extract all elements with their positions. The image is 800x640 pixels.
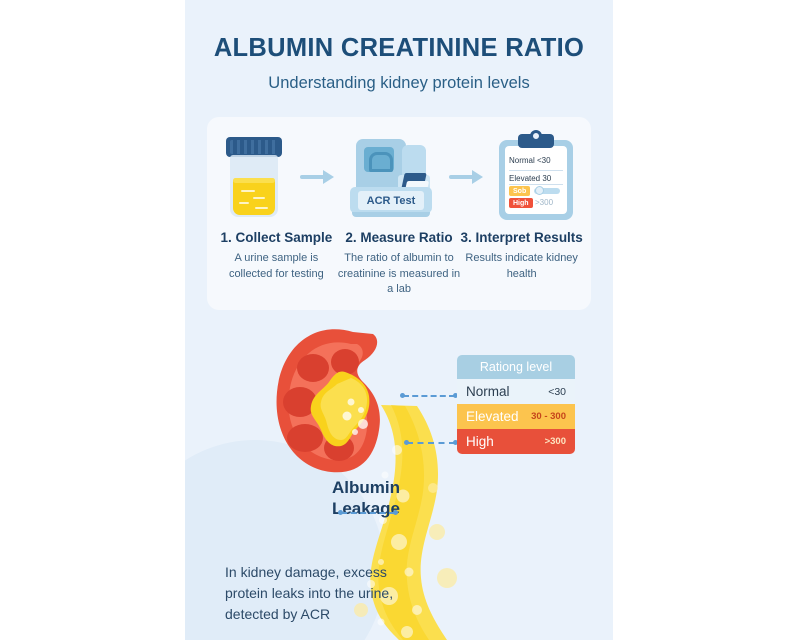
step-body: Results indicate kidney health [460, 251, 583, 281]
cup-urine-fluid [233, 178, 275, 215]
urine-sample-cup-icon [223, 135, 285, 219]
connector-normal [403, 395, 455, 397]
results-clipboard-icon: Normal <30 Elevated 30 Sob High >300 [497, 132, 575, 222]
legend-row-elevated: Elevated 30 - 300 [457, 404, 575, 429]
machine-screen [364, 147, 394, 172]
step-heading: 3. Interpret Results [460, 230, 583, 246]
legend-value: >300 [545, 436, 566, 447]
header: ALBUMIN CREATININE RATIO Understanding k… [185, 34, 613, 93]
infographic-canvas: ALBUMIN CREATININE RATIO Understanding k… [0, 0, 800, 640]
page-subtitle: Understanding kidney protein levels [185, 74, 613, 93]
legend-row-normal: Normal <30 [457, 379, 575, 404]
page-title: ALBUMIN CREATININE RATIO [185, 34, 613, 62]
legend-label: Normal [466, 384, 510, 399]
process-step: 1. Collect Sample A urine sample is coll… [215, 230, 338, 297]
machine-label: ACR Test [358, 193, 424, 209]
process-steps-text: 1. Collect Sample A urine sample is coll… [207, 230, 591, 297]
step-body: The ratio of albumin to creatinine is me… [338, 251, 461, 297]
process-card: ACR Test Normal <30 Elevated 30 Sob [207, 117, 591, 310]
step-heading: 1. Collect Sample [215, 230, 338, 246]
legend-label: Elevated [466, 409, 519, 424]
connector-albumin [341, 512, 395, 514]
legend-value: 30 - 300 [531, 411, 566, 422]
process-step: 2. Measure Ratio The ratio of albumin to… [338, 230, 461, 297]
clipboard-slider-knob [535, 186, 544, 195]
clipboard-badge-high: High [509, 198, 533, 208]
connector-high [407, 442, 455, 444]
process-icons-row: ACR Test Normal <30 Elevated 30 Sob [207, 127, 591, 227]
clipboard-ring [530, 130, 542, 142]
infographic-panel: ALBUMIN CREATININE RATIO Understanding k… [185, 0, 613, 640]
rating-level-legend: Rationg level Normal <30 Elevated 30 - 3… [457, 355, 575, 454]
step-heading: 2. Measure Ratio [338, 230, 461, 246]
legend-header: Rationg level [457, 355, 575, 379]
legend-value: <30 [548, 386, 566, 398]
bottom-description: In kidney damage, excess protein leaks i… [225, 562, 405, 625]
clipboard-row-normal: Normal <30 [509, 156, 551, 165]
arrow-icon-2 [449, 165, 483, 189]
legend-label: High [466, 434, 494, 449]
clipboard-badge-sob: Sob [509, 186, 530, 196]
process-step: 3. Interpret Results Results indicate ki… [460, 230, 583, 297]
clipboard-value-high: >300 [535, 198, 553, 207]
step-body: A urine sample is collected for testing [215, 251, 338, 281]
legend-row-high: High >300 [457, 429, 575, 454]
acr-analyzer-icon: ACR Test [348, 135, 434, 219]
cup-lid [226, 137, 282, 157]
arrow-icon-1 [300, 165, 334, 189]
clipboard-row-elevated: Elevated 30 [509, 174, 551, 183]
